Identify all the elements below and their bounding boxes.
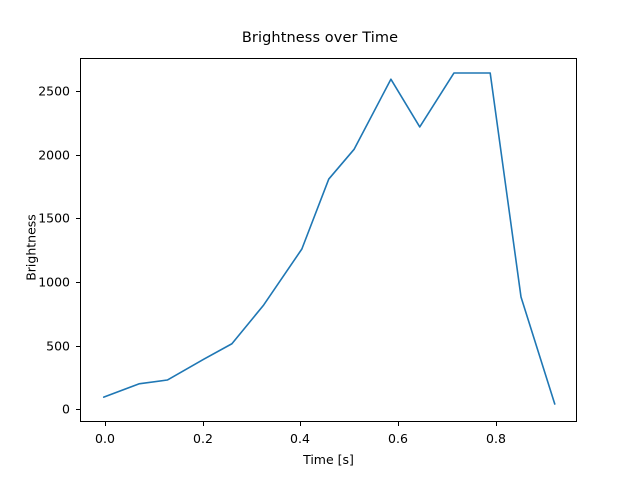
ytick-label-0: 0 — [20, 402, 70, 417]
chart-title: Brightness over Time — [0, 30, 640, 46]
xtick-label-0-4: 0.4 — [290, 431, 310, 446]
ytick-label-500: 500 — [20, 339, 70, 354]
xtick-label-0-8: 0.8 — [486, 431, 506, 446]
line-series-svg — [81, 59, 578, 423]
y-axis-label: Brightness — [24, 188, 39, 308]
ytick-label-2000: 2000 — [20, 148, 70, 163]
xtick-mark-0-2 — [203, 422, 204, 426]
xtick-label-0-6: 0.6 — [388, 431, 408, 446]
xtick-label-0-2: 0.2 — [193, 431, 213, 446]
x-axis-label: Time [s] — [80, 452, 577, 467]
ytick-mark-2500 — [76, 91, 80, 92]
ytick-mark-0 — [76, 409, 80, 410]
ytick-mark-500 — [76, 346, 80, 347]
xtick-mark-0-4 — [300, 422, 301, 426]
xtick-mark-0-6 — [398, 422, 399, 426]
brightness-line — [104, 73, 555, 404]
xtick-label-0: 0.0 — [95, 431, 115, 446]
figure-canvas: Brightness over Time 2500 2000 1500 1000… — [0, 0, 640, 480]
xtick-mark-0 — [105, 422, 106, 426]
ytick-mark-1000 — [76, 282, 80, 283]
xtick-mark-0-8 — [496, 422, 497, 426]
ytick-label-2500: 2500 — [20, 84, 70, 99]
ytick-mark-2000 — [76, 155, 80, 156]
plot-area — [80, 58, 577, 422]
ytick-mark-1500 — [76, 218, 80, 219]
